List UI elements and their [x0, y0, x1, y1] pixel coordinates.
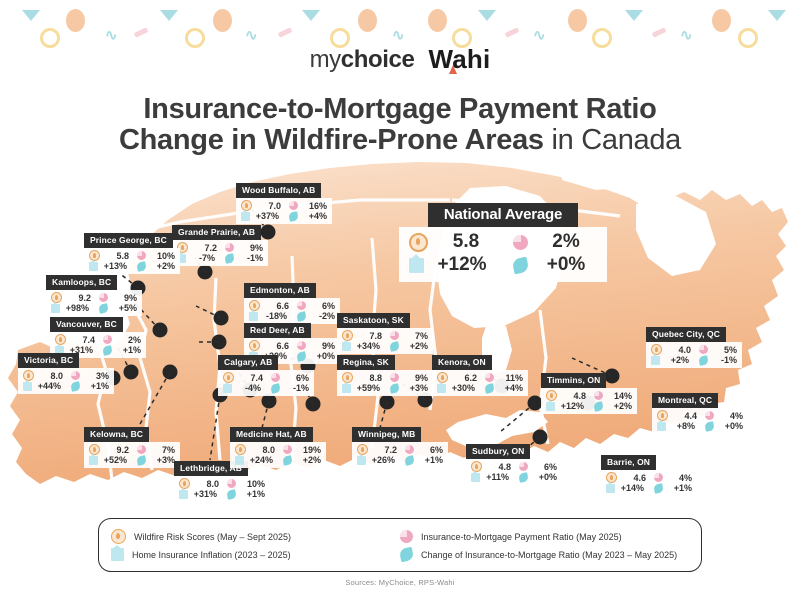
metric-ratio: 6%: [519, 461, 557, 472]
confetti-stick-icon: [505, 27, 520, 37]
ratio-pie-icon: [227, 479, 236, 488]
insurance-inflation-value: +24%: [247, 455, 273, 465]
ratio-change-icon: [399, 547, 414, 562]
metric-ratio: 6%: [297, 300, 335, 311]
ratio-change-icon: [282, 455, 293, 466]
sources-note: Sources: MyChoice, RPS-Wahi: [0, 578, 800, 587]
city-card-montreal[interactable]: Montreal, QC 4.4 4% +8% +0%: [652, 390, 748, 434]
metric-ratio-change: +3%: [137, 455, 175, 465]
city-name: Red Deer, AB: [244, 323, 311, 338]
ratio-change-value: +1%: [83, 381, 109, 391]
ratio-value: 3%: [83, 371, 109, 381]
home-insurance-icon: [409, 258, 424, 273]
legend-item-insurance-inflation: Home Insurance Inflation (2023 – 2025): [111, 548, 400, 561]
ratio-change-value: +2%: [606, 401, 632, 411]
page-title: Insurance-to-Mortgage Payment Ratio Chan…: [0, 94, 800, 156]
confetti-dot-icon: [568, 9, 587, 32]
wildfire-risk-value: 4.8: [485, 462, 511, 472]
city-card-sudbury[interactable]: Sudbury, ON 4.8 6% +11% +0%: [466, 441, 562, 485]
legend-item-ratio-change: Change of Insurance-to-Mortgage Ratio (M…: [400, 548, 689, 561]
ratio-pie-icon: [513, 235, 528, 250]
confetti-bow-icon: [160, 10, 178, 21]
insurance-inflation-value: +13%: [101, 261, 127, 271]
confetti-dot-icon: [66, 9, 85, 32]
metric-insurance-inflation: +13%: [89, 261, 129, 271]
insurance-inflation-value: +2%: [663, 355, 689, 365]
wildfire-risk-value: 4.4: [671, 411, 697, 421]
city-card-timmins[interactable]: Timmins, ON 4.8 14% +12% +2%: [541, 370, 637, 414]
home-insurance-icon: [651, 356, 660, 365]
metric-ratio: 9%: [225, 242, 263, 253]
ratio-value: 9%: [309, 341, 335, 351]
national-ratio-change-value: +0%: [535, 254, 597, 276]
wildfire-risk-value: 9.2: [65, 293, 91, 303]
wildfire-risk-value: 5.8: [103, 251, 129, 261]
city-name: Calgary, AB: [218, 355, 278, 370]
metric-insurance-inflation: +14%: [606, 483, 646, 493]
city-card-prince-george[interactable]: Prince George, BC 5.8 10% +13% +2%: [84, 230, 180, 274]
legend: Wildfire Risk Scores (May – Sept 2025) I…: [98, 518, 702, 572]
metric-insurance-inflation: +44%: [23, 381, 63, 391]
mychoice-logo-light: my: [310, 46, 341, 73]
metric-ratio: 11%: [485, 372, 523, 383]
page-title-line2-bold: Change in Wildfire-Prone Areas: [119, 124, 544, 156]
ratio-pie-icon: [137, 251, 146, 260]
ratio-change-icon: [224, 253, 235, 264]
ratio-change-icon: [404, 455, 415, 466]
wildfire-risk-value: 6.6: [263, 301, 289, 311]
metric-insurance-inflation: +26%: [357, 455, 397, 465]
city-card-kamloops[interactable]: Kamloops, BC 9.2 9% +98% +5%: [46, 272, 142, 316]
home-insurance-icon: [606, 484, 615, 493]
ratio-change-icon: [98, 303, 109, 314]
city-name: Victoria, BC: [18, 353, 79, 368]
ratio-pie-icon: [283, 445, 292, 454]
city-card-grande-prairie[interactable]: Grande Prairie, AB 7.2 9% -7% -1%: [172, 222, 268, 266]
ratio-value: 6%: [309, 301, 335, 311]
metric-ratio: 9%: [99, 292, 137, 303]
metric-ratio: 10%: [227, 478, 265, 489]
home-insurance-icon: [342, 342, 351, 351]
national-average-title: National Average: [428, 203, 578, 227]
ratio-pie-icon: [271, 373, 280, 382]
metric-insurance-inflation: +11%: [471, 472, 511, 482]
ratio-pie-icon: [289, 201, 298, 210]
ratio-value: 10%: [149, 251, 175, 261]
mychoice-logo-bold: choice: [341, 46, 415, 73]
confetti-dot-icon: [358, 9, 377, 32]
ratio-value: 7%: [402, 331, 428, 341]
city-card-winnipeg[interactable]: Winnipeg, MB 7.2 6% +26% +1%: [352, 424, 448, 468]
ratio-change-icon: [288, 211, 299, 222]
flame-icon: [449, 65, 457, 74]
ratio-value: 4%: [666, 473, 692, 483]
ratio-value: 7%: [149, 445, 175, 455]
metric-insurance-inflation: +8%: [657, 421, 697, 431]
home-insurance-icon: [342, 384, 351, 393]
ratio-change-value: +2%: [149, 261, 175, 271]
metric-ratio-change: +1%: [71, 381, 109, 391]
metric-ratio-change: +4%: [289, 211, 327, 221]
city-name: Edmonton, AB: [244, 283, 316, 298]
ratio-change-value: -1%: [283, 383, 309, 393]
city-name: Medicine Hat, AB: [230, 427, 313, 442]
insurance-inflation-value: +11%: [483, 472, 509, 482]
insurance-inflation-value: +98%: [63, 303, 89, 313]
confetti-squiggle-icon: ∿: [245, 28, 258, 43]
wildfire-risk-value: 4.8: [560, 391, 586, 401]
national-insurance-inflation-value: +12%: [431, 254, 493, 276]
metric-insurance-inflation: +12%: [546, 401, 586, 411]
ratio-value: 10%: [239, 479, 265, 489]
ratio-value: 11%: [497, 373, 523, 383]
wildfire-risk-value: 8.0: [249, 445, 275, 455]
ratio-change-value: -1%: [237, 253, 263, 263]
metric-ratio-change: +2%: [137, 261, 175, 271]
metric-insurance-inflation: -4%: [223, 383, 263, 393]
home-insurance-icon: [223, 384, 232, 393]
city-name: Kelowna, BC: [84, 427, 149, 442]
confetti-bow-icon: [302, 10, 320, 21]
insurance-inflation-value: +8%: [669, 421, 695, 431]
ratio-pie-icon: [297, 341, 306, 350]
wildfire-risk-value: 9.2: [103, 445, 129, 455]
ratio-value: 6%: [283, 373, 309, 383]
metric-insurance-inflation: +37%: [241, 211, 281, 221]
ratio-pie-icon: [71, 371, 80, 380]
ratio-pie-icon: [390, 331, 399, 340]
ratio-value: 9%: [402, 373, 428, 383]
insurance-inflation-value: +31%: [191, 489, 217, 499]
wahi-logo: Wahi: [428, 44, 490, 75]
ratio-change-value: +1%: [666, 483, 692, 493]
confetti-squiggle-icon: ∿: [105, 28, 118, 43]
ratio-change-value: +4%: [301, 211, 327, 221]
confetti-squiggle-icon: ∿: [680, 28, 693, 43]
metric-insurance-inflation: +98%: [51, 303, 91, 313]
ratio-change-value: +3%: [149, 455, 175, 465]
metric-insurance-inflation: +12%: [409, 254, 497, 276]
ratio-pie-icon: [297, 301, 306, 310]
ratio-value: 9%: [237, 243, 263, 253]
metric-ratio-change: +0%: [705, 421, 743, 431]
metric-ratio-change: +2%: [594, 401, 632, 411]
confetti-squiggle-icon: ∿: [533, 28, 546, 43]
confetti-squiggle-icon: ∿: [392, 28, 405, 43]
city-name: Grande Prairie, AB: [172, 225, 261, 240]
ratio-change-value: +1%: [239, 489, 265, 499]
ratio-change-icon: [593, 401, 604, 412]
city-name: Regina, SK: [337, 355, 395, 370]
ratio-pie-icon: [594, 391, 603, 400]
metric-ratio-change: +2%: [283, 455, 321, 465]
city-name: Montreal, QC: [652, 393, 718, 408]
metric-insurance-inflation: +2%: [651, 355, 691, 365]
ratio-change-value: -1%: [711, 355, 737, 365]
insurance-inflation-value: +34%: [354, 341, 380, 351]
ratio-value: 6%: [417, 445, 443, 455]
metric-insurance-inflation: -7%: [177, 253, 217, 263]
ratio-pie-icon: [225, 243, 234, 252]
confetti-stick-icon: [134, 27, 149, 37]
mychoice-logo: mychoice: [310, 46, 415, 74]
legend-item-ratio: Insurance-to-Mortgage Payment Ratio (May…: [400, 529, 689, 544]
confetti-dot-icon: [428, 9, 447, 32]
metric-ratio-change: -1%: [225, 253, 263, 263]
insurance-inflation-value: -4%: [235, 383, 261, 393]
insurance-inflation-value: -7%: [189, 253, 215, 263]
metric-ratio: 9%: [390, 372, 428, 383]
legend-item-wildfire-risk: Wildfire Risk Scores (May – Sept 2025): [111, 529, 400, 544]
city-card-kenora[interactable]: Kenora, ON 6.2 11% +30% +4%: [432, 352, 528, 396]
ratio-pie-icon: [705, 411, 714, 420]
ratio-change-icon: [389, 383, 400, 394]
home-insurance-icon: [51, 304, 60, 313]
metric-ratio: 7%: [390, 330, 428, 341]
confetti-stick-icon: [278, 27, 293, 37]
ratio-change-icon: [136, 455, 147, 466]
insurance-inflation-value: +26%: [369, 455, 395, 465]
ratio-pie-icon: [137, 445, 146, 454]
home-insurance-icon: [23, 382, 32, 391]
ratio-change-value: +4%: [497, 383, 523, 393]
metric-ratio: 2%: [513, 231, 597, 253]
wildfire-risk-value: 8.0: [37, 371, 63, 381]
metric-ratio: 10%: [137, 250, 175, 261]
city-name: Winnipeg, MB: [352, 427, 421, 442]
home-insurance-icon: [89, 262, 98, 271]
metric-ratio: 2%: [103, 334, 141, 345]
ratio-change-icon: [389, 341, 400, 352]
ratio-change-icon: [512, 256, 530, 274]
legend-label: Wildfire Risk Scores (May – Sept 2025): [134, 532, 291, 542]
legend-label: Insurance-to-Mortgage Payment Ratio (May…: [421, 532, 622, 542]
city-card-calgary[interactable]: Calgary, AB 7.4 6% -4% -1%: [218, 352, 314, 396]
metric-ratio: 19%: [283, 444, 321, 455]
ratio-change-icon: [653, 483, 664, 494]
confetti-bow-icon: [768, 10, 786, 21]
metric-ratio-change: -1%: [699, 355, 737, 365]
ratio-value: 2%: [115, 335, 141, 345]
national-average-card: National Average 5.8 2% +12% +0%: [399, 203, 607, 282]
ratio-change-value: +1%: [417, 455, 443, 465]
metric-ratio: 3%: [71, 370, 109, 381]
wildfire-risk-value: 4.6: [620, 473, 646, 483]
home-insurance-icon: [111, 548, 124, 561]
city-card-wood-buffalo[interactable]: Wood Buffalo, AB 7.0 16% +37% +4%: [236, 180, 332, 224]
metric-wildfire-risk: 5.8: [409, 231, 497, 253]
ratio-value: 4%: [717, 411, 743, 421]
ratio-change-value: +2%: [402, 341, 428, 351]
wildfire-risk-icon: [111, 529, 126, 544]
insurance-inflation-value: +14%: [618, 483, 644, 493]
metric-ratio-change: +1%: [227, 489, 265, 499]
confetti-bow-icon: [625, 10, 643, 21]
metric-insurance-inflation: +59%: [342, 383, 382, 393]
ratio-pie-icon: [654, 473, 663, 482]
confetti-stick-icon: [652, 27, 667, 37]
home-insurance-icon: [179, 490, 188, 499]
legend-label: Home Insurance Inflation (2023 – 2025): [132, 550, 291, 560]
legend-label: Change of Insurance-to-Mortgage Ratio (M…: [421, 550, 677, 560]
city-name: Timmins, ON: [541, 373, 606, 388]
metric-ratio-change: +2%: [390, 341, 428, 351]
wildfire-risk-value: 8.0: [193, 479, 219, 489]
metric-ratio-change: +0%: [519, 472, 557, 482]
city-card-edmonton[interactable]: Edmonton, AB 6.6 6% -18% -2%: [244, 280, 340, 324]
ratio-change-value: +1%: [115, 345, 141, 355]
ratio-value: 9%: [111, 293, 137, 303]
insurance-inflation-value: +37%: [253, 211, 279, 221]
metric-ratio: 6%: [405, 444, 443, 455]
city-card-victoria[interactable]: Victoria, BC 8.0 3% +44% +1%: [18, 350, 114, 394]
ratio-change-value: +5%: [111, 303, 137, 313]
ratio-pie-icon: [519, 462, 528, 471]
metric-ratio-change: +3%: [390, 383, 428, 393]
city-name: Vancouver, BC: [50, 317, 123, 332]
insurance-inflation-value: +59%: [354, 383, 380, 393]
metric-ratio: 16%: [289, 200, 327, 211]
infographic-canvas: ∿ ∿ ∿ ∿ ∿ mychoice Wahi Insurance-to-Mor…: [0, 0, 800, 600]
ratio-change-value: +0%: [531, 472, 557, 482]
home-insurance-icon: [357, 456, 366, 465]
ratio-pie-icon: [99, 293, 108, 302]
wildfire-risk-value: 7.8: [356, 331, 382, 341]
wildfire-risk-value: 8.8: [356, 373, 382, 383]
ratio-value: 14%: [606, 391, 632, 401]
home-insurance-icon: [471, 473, 480, 482]
city-card-kelowna[interactable]: Kelowna, BC 9.2 7% +52% +3%: [84, 424, 180, 468]
city-card-barrie[interactable]: Barrie, ON 4.6 4% +14% +1%: [601, 452, 697, 496]
page-title-line1: Insurance-to-Mortgage Payment Ratio: [0, 94, 800, 125]
insurance-inflation-value: +30%: [449, 383, 475, 393]
ratio-value: 6%: [531, 462, 557, 472]
confetti-bow-icon: [478, 10, 496, 21]
ratio-change-icon: [704, 421, 715, 432]
page-title-line2-light: in Canada: [552, 124, 682, 156]
wahi-logo-text: Wahi: [428, 44, 490, 74]
ratio-value: 19%: [295, 445, 321, 455]
city-name: Saskatoon, SK: [337, 313, 410, 328]
confetti-dot-icon: [213, 9, 232, 32]
ratio-pie-icon: [400, 530, 413, 543]
home-insurance-icon: [241, 212, 250, 221]
wildfire-risk-value: 7.4: [69, 335, 95, 345]
wildfire-risk-value: 7.0: [255, 201, 281, 211]
metric-ratio-change: +0%: [513, 254, 597, 276]
home-insurance-icon: [546, 402, 555, 411]
wildfire-risk-value: 4.0: [665, 345, 691, 355]
home-insurance-icon: [657, 422, 666, 431]
home-insurance-icon: [235, 456, 244, 465]
metric-insurance-inflation: +52%: [89, 455, 129, 465]
insurance-inflation-value: +52%: [101, 455, 127, 465]
ratio-change-icon: [270, 383, 281, 394]
national-ratio-value: 2%: [535, 231, 597, 253]
metric-ratio: 4%: [705, 410, 743, 421]
home-insurance-icon: [89, 456, 98, 465]
metric-ratio: 6%: [271, 372, 309, 383]
city-name: Quebec City, QC: [646, 327, 726, 342]
city-name: Barrie, ON: [601, 455, 656, 470]
wildfire-risk-icon: [409, 233, 428, 252]
ratio-change-icon: [518, 472, 529, 483]
city-name: Prince George, BC: [84, 233, 173, 248]
city-name: Wood Buffalo, AB: [236, 183, 321, 198]
insurance-inflation-value: +44%: [35, 381, 61, 391]
ratio-pie-icon: [485, 373, 494, 382]
metric-insurance-inflation: +24%: [235, 455, 275, 465]
metric-ratio: 5%: [699, 344, 737, 355]
confetti-dot-icon: [712, 9, 731, 32]
ratio-pie-icon: [405, 445, 414, 454]
ratio-pie-icon: [390, 373, 399, 382]
ratio-change-value: +2%: [295, 455, 321, 465]
ratio-value: 16%: [301, 201, 327, 211]
city-card-saskatoon[interactable]: Saskatoon, SK 7.8 7% +34% +2%: [337, 310, 433, 354]
confetti-bow-icon: [22, 10, 40, 21]
ratio-change-value: +3%: [402, 383, 428, 393]
metric-ratio-change: -1%: [271, 383, 309, 393]
metric-ratio: 9%: [297, 340, 335, 351]
metric-insurance-inflation: +34%: [342, 341, 382, 351]
metric-ratio-change: +5%: [99, 303, 137, 313]
wildfire-risk-value: 6.2: [451, 373, 477, 383]
city-card-quebec-city[interactable]: Quebec City, QC 4.0 5% +2% -1%: [646, 324, 742, 368]
wildfire-risk-value: 6.6: [263, 341, 289, 351]
ratio-change-icon: [226, 489, 237, 500]
metric-ratio-change: +4%: [485, 383, 523, 393]
ratio-change-icon: [70, 381, 81, 392]
city-name: Sudbury, ON: [466, 444, 530, 459]
ratio-pie-icon: [103, 335, 112, 344]
insurance-inflation-value: +12%: [558, 401, 584, 411]
wildfire-risk-value: 7.2: [191, 243, 217, 253]
ratio-change-value: +0%: [717, 421, 743, 431]
ratio-value: 5%: [711, 345, 737, 355]
ratio-change-icon: [698, 355, 709, 366]
metric-insurance-inflation: +31%: [179, 489, 219, 499]
metric-ratio: 14%: [594, 390, 632, 401]
city-name: Kenora, ON: [432, 355, 492, 370]
metric-ratio: 4%: [654, 472, 692, 483]
city-name: Kamloops, BC: [46, 275, 117, 290]
home-insurance-icon: [437, 384, 446, 393]
metric-insurance-inflation: +30%: [437, 383, 477, 393]
ratio-change-icon: [484, 383, 495, 394]
wildfire-risk-value: 7.4: [237, 373, 263, 383]
national-wildfire-risk-value: 5.8: [435, 231, 497, 253]
brand-logos: mychoice Wahi: [0, 44, 800, 75]
city-card-medicine-hat[interactable]: Medicine Hat, AB 8.0 19% +24% +2%: [230, 424, 326, 468]
metric-ratio-change: +1%: [405, 455, 443, 465]
ratio-pie-icon: [699, 345, 708, 354]
wildfire-risk-value: 7.2: [371, 445, 397, 455]
city-card-regina[interactable]: Regina, SK 8.8 9% +59% +3%: [337, 352, 433, 396]
metric-ratio: 7%: [137, 444, 175, 455]
metric-ratio-change: +1%: [654, 483, 692, 493]
ratio-change-icon: [136, 261, 147, 272]
